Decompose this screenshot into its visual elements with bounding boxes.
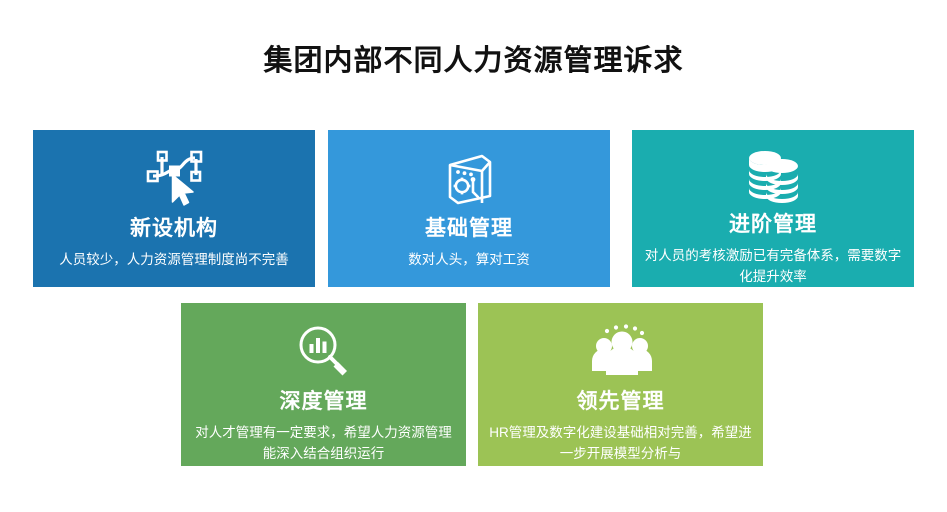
- card-description: HR管理及数字化建设基础相对完善，希望进一步开展模型分析与: [478, 423, 763, 465]
- magnifier-bar-chart-icon: [293, 321, 355, 383]
- card-deep-management[interactable]: 深度管理 对人才管理有一定要求，希望人力资源管理能深入结合组织运行: [181, 303, 466, 466]
- card-title: 基础管理: [425, 216, 513, 242]
- card-basic-management[interactable]: 基础管理 数对人头，算对工资: [328, 130, 610, 287]
- card-description: 数对人头，算对工资: [328, 250, 610, 271]
- bezier-path-cursor-icon: [137, 148, 211, 210]
- card-leading-management[interactable]: 领先管理 HR管理及数字化建设基础相对完善，希望进一步开展模型分析与: [478, 303, 763, 466]
- card-title: 进阶管理: [729, 212, 817, 238]
- card-title: 深度管理: [280, 389, 368, 415]
- screen-gear-icon: [438, 148, 500, 210]
- slide-canvas: 集团内部不同人力资源管理诉求 新设机构 人员较少，人力资源管: [0, 0, 947, 512]
- stacked-coins-icon: [738, 148, 808, 206]
- card-new-organization[interactable]: 新设机构 人员较少，人力资源管理制度尚不完善: [33, 130, 315, 287]
- card-description: 对人才管理有一定要求，希望人力资源管理能深入结合组织运行: [181, 423, 466, 465]
- card-advanced-management[interactable]: 进阶管理 对人员的考核激励已有完备体系，需要数字化提升效率: [632, 130, 914, 287]
- card-description: 对人员的考核激励已有完备体系，需要数字化提升效率: [632, 246, 914, 287]
- people-group-icon: [583, 321, 659, 383]
- card-title: 新设机构: [130, 216, 218, 242]
- card-title: 领先管理: [577, 389, 665, 415]
- page-title: 集团内部不同人力资源管理诉求: [0, 44, 947, 79]
- card-description: 人员较少，人力资源管理制度尚不完善: [33, 250, 315, 271]
